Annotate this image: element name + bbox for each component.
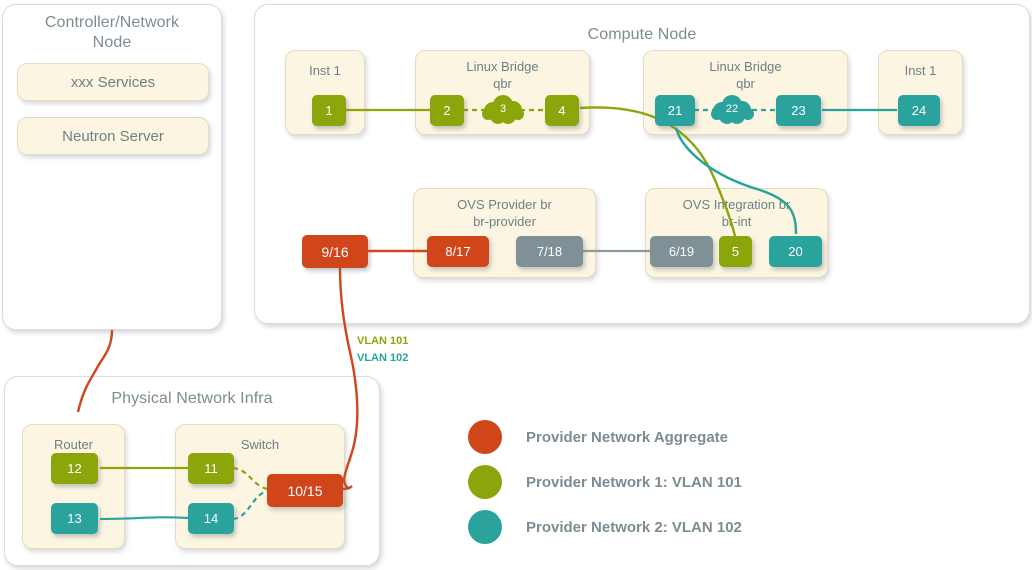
chip-port-4[interactable]: 4 (545, 95, 579, 126)
controller-node-title-line2: Node (3, 33, 221, 53)
legend-label-provider-net-1: Provider Network 1: VLAN 101 (526, 474, 742, 491)
physical-network-title: Physical Network Infra (5, 389, 379, 409)
chip-port-24[interactable]: 24 (898, 95, 940, 126)
card-neutron-server-label: Neutron Server (18, 129, 208, 145)
legend: Provider Network Aggregate Provider Netw… (468, 420, 868, 550)
chip-port-7-18[interactable]: 7/18 (516, 236, 583, 267)
legend-dot-provider-aggregate (468, 420, 502, 454)
chip-port-13[interactable]: 13 (51, 503, 98, 534)
chip-port-1[interactable]: 1 (312, 95, 346, 126)
compute-node-title: Compute Node (255, 25, 1029, 45)
cloud-port-22[interactable]: 22 (710, 92, 754, 126)
vlan-101-label: VLAN 101 (357, 334, 408, 348)
controller-network-node[interactable]: Controller/Network Node xxx Services Neu… (2, 4, 222, 330)
chip-port-2[interactable]: 2 (430, 95, 464, 126)
card-inst-1-right-title: Inst 1 (879, 63, 962, 79)
chip-port-8-17[interactable]: 8/17 (427, 236, 489, 267)
cloud-port-3[interactable]: 3 (482, 92, 524, 126)
card-ovs-provider-title-line2: br-provider (414, 214, 595, 230)
chip-port-23[interactable]: 23 (776, 95, 821, 126)
vlan-102-label: VLAN 102 (357, 351, 408, 365)
chip-port-6-19[interactable]: 6/19 (650, 236, 713, 267)
chip-port-14[interactable]: 14 (188, 503, 234, 534)
legend-dot-provider-net-2 (468, 510, 502, 544)
card-switch-title: Switch (176, 437, 344, 453)
card-lb-left-title-line1: Linux Bridge (416, 59, 589, 75)
card-inst-1-left-title: Inst 1 (286, 63, 364, 79)
legend-label-provider-net-2: Provider Network 2: VLAN 102 (526, 519, 742, 536)
chip-port-10-15[interactable]: 10/15 (267, 474, 343, 507)
card-xxx-services[interactable]: xxx Services (17, 63, 209, 101)
card-ovs-integration-title-line2: br-int (646, 214, 827, 230)
legend-item-provider-net-2[interactable]: Provider Network 2: VLAN 102 (468, 510, 742, 544)
card-ovs-provider-title-line1: OVS Provider br (414, 197, 595, 213)
card-ovs-integration-title-line1: OVS Integration br (646, 197, 827, 213)
legend-dot-provider-net-1 (468, 465, 502, 499)
card-neutron-server[interactable]: Neutron Server (17, 117, 209, 155)
card-xxx-services-label: xxx Services (18, 75, 208, 91)
card-lb-right-title-line2: qbr (644, 76, 847, 92)
card-router-title: Router (23, 437, 124, 453)
card-lb-left-title-line2: qbr (416, 76, 589, 92)
chip-port-5[interactable]: 5 (719, 236, 752, 267)
controller-node-title-line1: Controller/Network (3, 13, 221, 33)
chip-port-21[interactable]: 21 (655, 95, 695, 126)
chip-port-9-16[interactable]: 9/16 (302, 235, 368, 268)
diagram-canvas: Controller/Network Node xxx Services Neu… (0, 0, 1032, 570)
chip-port-12[interactable]: 12 (51, 453, 98, 484)
chip-port-11[interactable]: 11 (188, 453, 234, 484)
legend-item-provider-net-1[interactable]: Provider Network 1: VLAN 101 (468, 465, 742, 499)
chip-port-20[interactable]: 20 (769, 236, 822, 267)
legend-item-provider-aggregate[interactable]: Provider Network Aggregate (468, 420, 728, 454)
legend-label-provider-aggregate: Provider Network Aggregate (526, 429, 728, 446)
card-lb-right-title-line1: Linux Bridge (644, 59, 847, 75)
